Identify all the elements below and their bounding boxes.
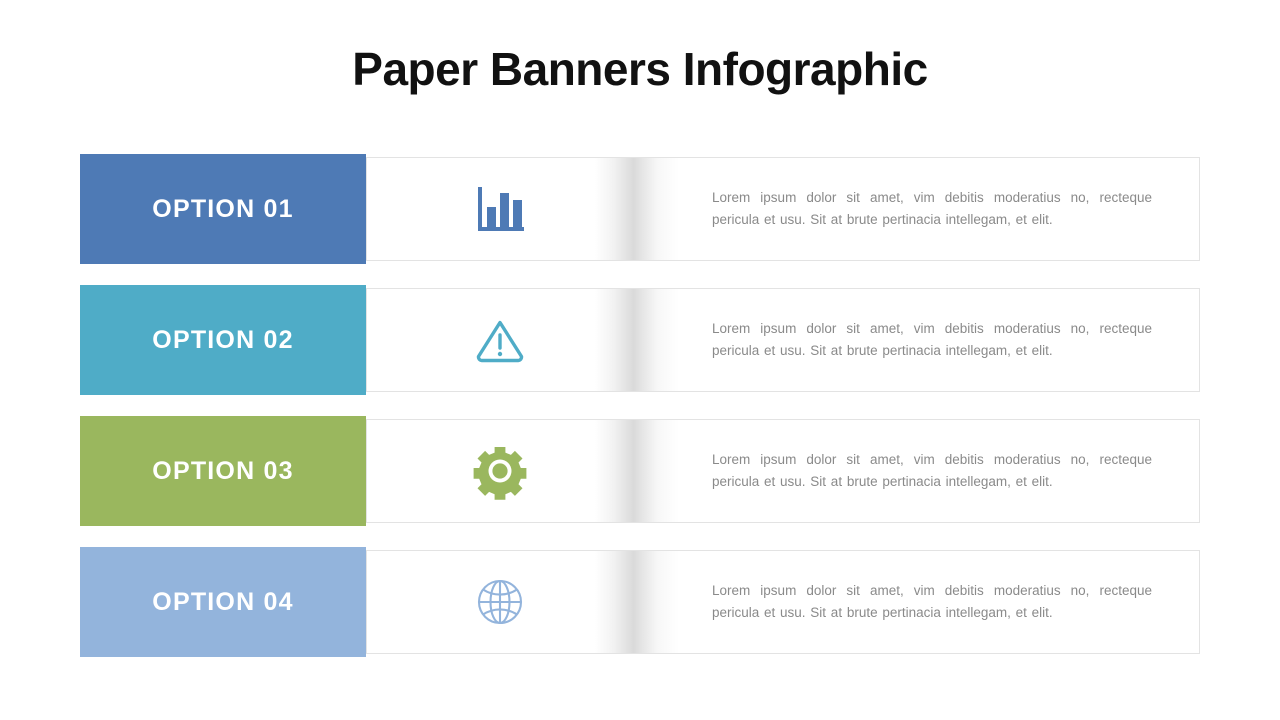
slide-canvas: Paper Banners Infographic OPTION 01 <box>0 0 1280 720</box>
option-description-cell: Lorem ipsum dolor sit amet, vim debitis … <box>712 419 1152 523</box>
option-description: Lorem ipsum dolor sit amet, vim debitis … <box>712 318 1152 362</box>
option-icon-cell <box>366 419 634 523</box>
option-band[interactable]: OPTION 04 <box>80 547 366 657</box>
option-description-cell: Lorem ipsum dolor sit amet, vim debitis … <box>712 288 1152 392</box>
option-icon-cell <box>366 550 634 654</box>
option-band[interactable]: OPTION 03 <box>80 416 366 526</box>
bar-chart-icon <box>470 179 530 239</box>
option-description: Lorem ipsum dolor sit amet, vim debitis … <box>712 187 1152 231</box>
options-list: OPTION 01 Lorem ipsum d <box>0 154 1280 678</box>
option-description: Lorem ipsum dolor sit amet, vim debitis … <box>712 449 1152 493</box>
option-label: OPTION 02 <box>152 328 293 353</box>
option-label: OPTION 04 <box>152 590 293 615</box>
warning-triangle-icon <box>470 310 530 370</box>
option-description-cell: Lorem ipsum dolor sit amet, vim debitis … <box>712 157 1152 261</box>
option-description: Lorem ipsum dolor sit amet, vim debitis … <box>712 580 1152 624</box>
option-row[interactable]: OPTION 04 <box>0 547 1280 657</box>
option-label: OPTION 01 <box>152 197 293 222</box>
option-band[interactable]: OPTION 01 <box>80 154 366 264</box>
option-row[interactable]: OPTION 03 Lorem ipsum dolor sit amet, vi… <box>0 416 1280 526</box>
globe-icon <box>470 572 530 632</box>
option-icon-cell <box>366 288 634 392</box>
option-row[interactable]: OPTION 01 Lorem ipsum d <box>0 154 1280 264</box>
option-row[interactable]: OPTION 02 Lorem ipsum dolor sit amet, vi… <box>0 285 1280 395</box>
gear-icon <box>470 441 530 501</box>
option-description-cell: Lorem ipsum dolor sit amet, vim debitis … <box>712 550 1152 654</box>
option-icon-cell <box>366 157 634 261</box>
option-band[interactable]: OPTION 02 <box>80 285 366 395</box>
page-title: Paper Banners Infographic <box>0 44 1280 95</box>
option-label: OPTION 03 <box>152 459 293 484</box>
